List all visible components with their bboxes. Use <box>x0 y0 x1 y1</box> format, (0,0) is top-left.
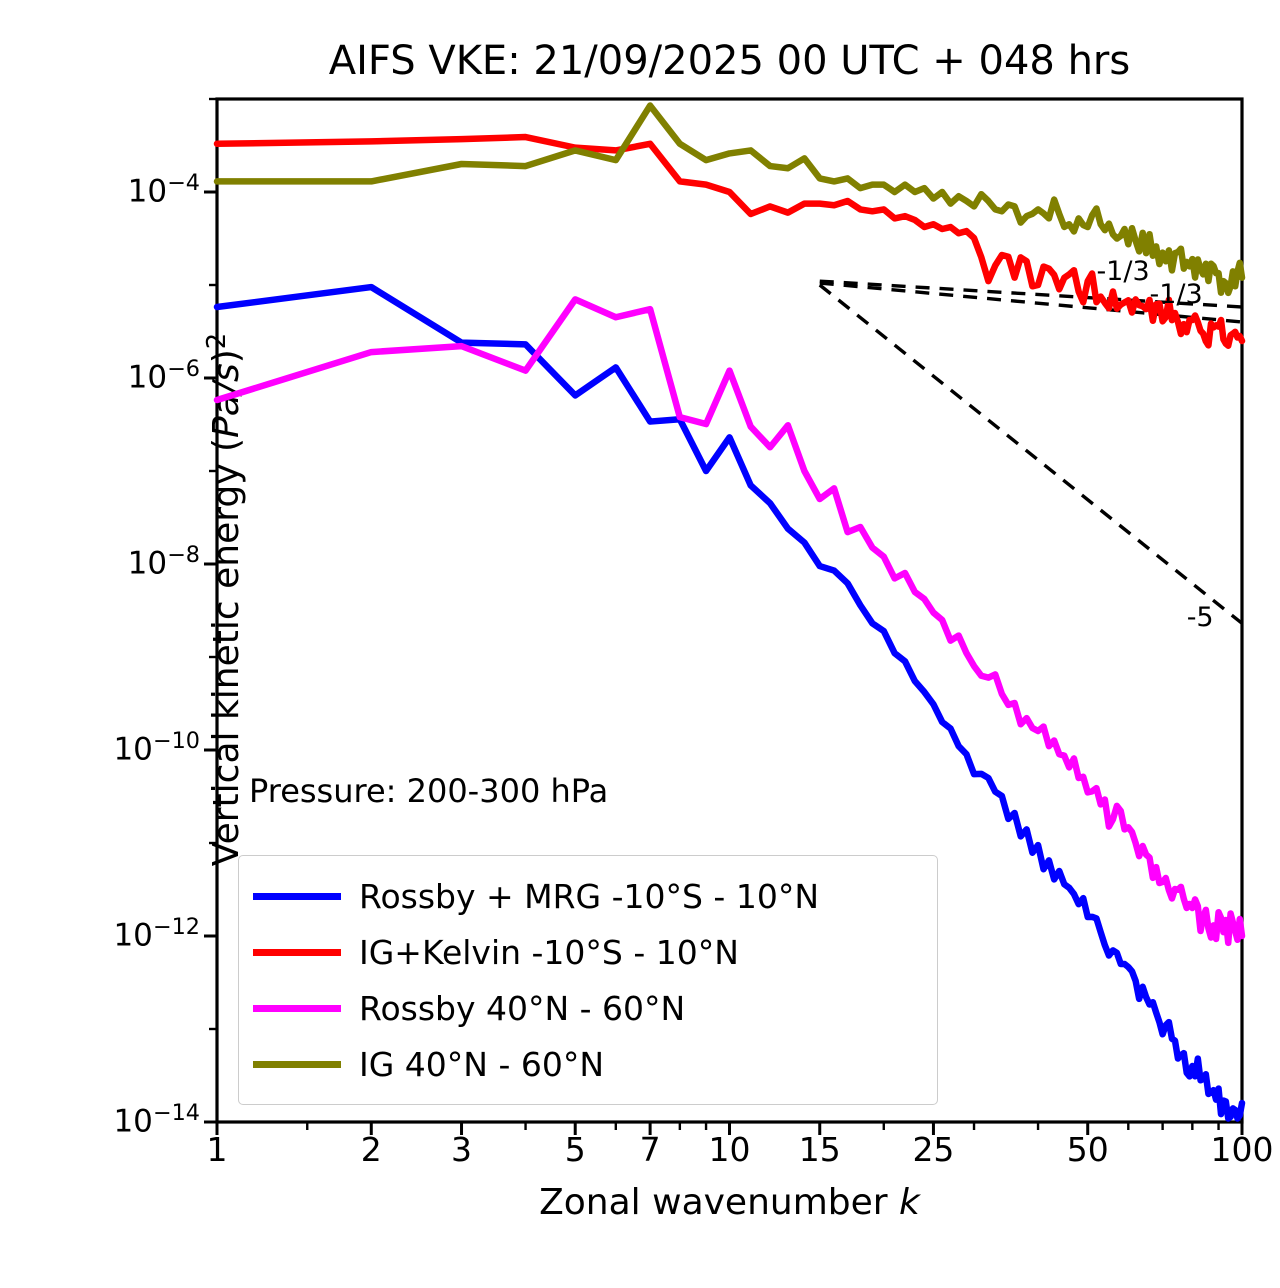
x-tick-label: 1 <box>207 1130 228 1169</box>
series-line <box>217 106 1242 293</box>
y-tick-label: 10−10 <box>113 728 200 767</box>
y-tick-label: 10−14 <box>113 1100 200 1139</box>
y-tick-label: 10−8 <box>128 542 200 581</box>
x-tick-label: 100 <box>1211 1130 1274 1169</box>
legend-item[interactable]: IG+Kelvin -10°S - 10°N <box>253 924 919 980</box>
legend-item[interactable]: IG 40°N - 60°N <box>253 1036 919 1092</box>
legend-color-swatch <box>253 1061 341 1068</box>
x-tick-label: 2 <box>361 1130 382 1169</box>
legend-item-label: IG 40°N - 60°N <box>359 1045 604 1084</box>
y-tick-label: 10−12 <box>113 914 200 953</box>
legend[interactable]: Rossby + MRG -10°S - 10°NIG+Kelvin -10°S… <box>238 855 938 1105</box>
legend-item[interactable]: Rossby + MRG -10°S - 10°N <box>253 868 919 924</box>
legend-item-label: Rossby 40°N - 60°N <box>359 989 685 1028</box>
legend-color-swatch <box>253 893 341 900</box>
x-tick-label: 10 <box>709 1130 751 1169</box>
pressure-annotation: Pressure: 200-300 hPa <box>249 772 608 810</box>
x-tick-label: 7 <box>640 1130 661 1169</box>
y-tick-label: 10−4 <box>128 170 200 209</box>
legend-item-label: IG+Kelvin -10°S - 10°N <box>359 933 739 972</box>
x-tick-label: 15 <box>799 1130 841 1169</box>
legend-color-swatch <box>253 1005 341 1012</box>
series-line <box>217 137 1242 346</box>
legend-item-label: Rossby + MRG -10°S - 10°N <box>359 877 819 916</box>
x-tick-label: 25 <box>912 1130 954 1169</box>
figure-canvas: AIFS VKE: 21/09/2025 00 UTC + 048 hrs Ve… <box>0 0 1280 1288</box>
y-tick-label: 10−6 <box>128 356 200 395</box>
slope-label-upper: -1/3 <box>1096 256 1149 287</box>
legend-item[interactable]: Rossby 40°N - 60°N <box>253 980 919 1036</box>
x-tick-label: 5 <box>565 1130 586 1169</box>
legend-color-swatch <box>253 949 341 956</box>
slope-label-lower: -1/3 <box>1150 279 1203 310</box>
series-line <box>217 299 1242 942</box>
x-tick-label: 50 <box>1067 1130 1109 1169</box>
slope-label-minus5: -5 <box>1187 602 1214 633</box>
x-tick-label: 3 <box>451 1130 472 1169</box>
